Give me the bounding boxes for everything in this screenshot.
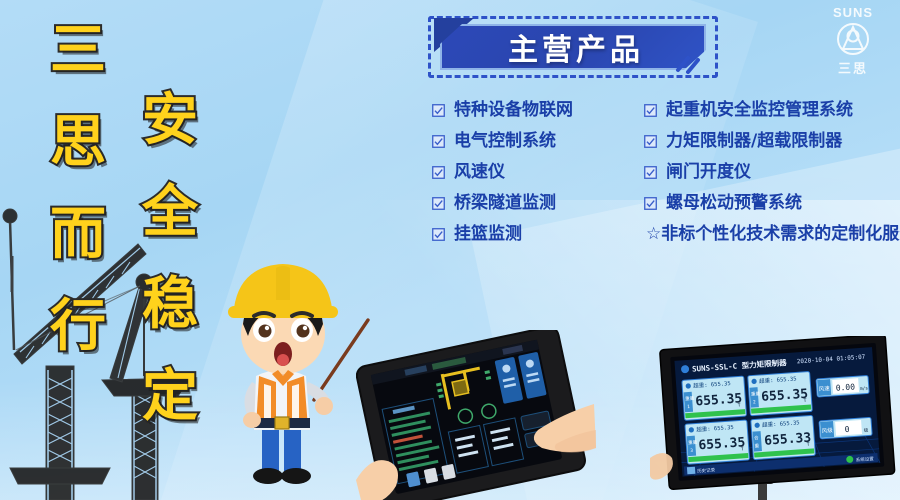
slogan-char: 思 bbox=[50, 114, 106, 172]
slogan-char: 定 bbox=[142, 368, 198, 426]
svg-text:T: T bbox=[806, 442, 809, 448]
product-cell[interactable]: 挂篮监测 bbox=[432, 224, 644, 244]
svg-text:T: T bbox=[803, 398, 806, 404]
product-label: 螺母松动预警系统 bbox=[666, 193, 802, 213]
svg-text:m/s: m/s bbox=[860, 385, 869, 392]
product-cell[interactable]: 电气控制系统 bbox=[432, 131, 644, 151]
product-label: 风速仪 bbox=[454, 162, 505, 182]
product-cell[interactable]: 闸门开度仪 bbox=[644, 162, 892, 182]
product-label: 特种设备物联网 bbox=[454, 100, 573, 120]
product-label: 起重机安全监控管理系统 bbox=[666, 100, 853, 120]
product-cell[interactable]: 风速仪 bbox=[432, 162, 644, 182]
industrial-touch-monitor-icon: SUNS-SSL-C 型力矩限制器 2020-10-04 01:05:07 超重… bbox=[650, 336, 900, 500]
product-list: 特种设备物联网 起重机安全监控管理系统 bbox=[432, 100, 892, 255]
checkbox-checked-icon bbox=[432, 197, 445, 210]
product-cell[interactable]: 桥梁隧道监测 bbox=[432, 193, 644, 213]
checkbox-checked-icon bbox=[644, 135, 657, 148]
product-label: 闸门开度仪 bbox=[666, 162, 751, 182]
slogan-char: 行 bbox=[50, 298, 106, 356]
checkbox-checked-icon bbox=[432, 228, 445, 241]
product-label: 桥梁隧道监测 bbox=[454, 193, 556, 213]
banner-plate: 主营产品 bbox=[440, 24, 706, 70]
product-label: 挂篮监测 bbox=[454, 224, 522, 244]
tablet-in-hands-icon bbox=[356, 330, 596, 500]
svg-text:0: 0 bbox=[844, 425, 850, 434]
product-cell[interactable]: 螺母松动预警系统 bbox=[644, 193, 892, 213]
checkbox-checked-icon bbox=[644, 104, 657, 117]
poster-canvas: 三 思 而 行 安 全 稳 定 SUNS 三思 主营产品 bbox=[0, 0, 900, 500]
svg-text:T: T bbox=[738, 402, 741, 408]
checkbox-checked-icon bbox=[644, 197, 657, 210]
product-label: 力矩限制器/超载限制器 bbox=[666, 131, 842, 151]
product-cell[interactable]: 特种设备物联网 bbox=[432, 100, 644, 120]
slogan-char: 而 bbox=[50, 206, 106, 264]
slogan-char: 全 bbox=[142, 184, 198, 242]
custom-service-note: ☆非标个性化技术需求的定制化服务 bbox=[644, 224, 900, 244]
slogan-char: 稳 bbox=[142, 276, 198, 334]
page-title: 主营产品 bbox=[502, 25, 644, 69]
product-label: 电气控制系统 bbox=[454, 131, 556, 151]
logo-wordmark: SUNS bbox=[820, 6, 886, 20]
product-cell[interactable]: 力矩限制器/超载限制器 bbox=[644, 131, 892, 151]
checkbox-checked-icon bbox=[432, 135, 445, 148]
product-cell[interactable]: 起重机安全监控管理系统 bbox=[644, 100, 892, 120]
svg-text:风速: 风速 bbox=[819, 385, 831, 393]
banner-corner-slash-icon bbox=[674, 50, 704, 74]
checkbox-checked-icon bbox=[432, 166, 445, 179]
product-row: 桥梁隧道监测 螺母松动预警系统 bbox=[432, 193, 892, 213]
product-row: 风速仪 闸门开度仪 bbox=[432, 162, 892, 182]
svg-text:0.00: 0.00 bbox=[835, 382, 855, 392]
product-row: 特种设备物联网 起重机安全监控管理系统 bbox=[432, 100, 892, 120]
product-row: 电气控制系统 力矩限制器/超载限制器 bbox=[432, 131, 892, 151]
logo-cn-name: 三思 bbox=[820, 62, 886, 77]
svg-text:T: T bbox=[741, 446, 744, 452]
slogan-char: 安 bbox=[142, 92, 198, 150]
section-banner: 主营产品 bbox=[428, 16, 718, 78]
checkbox-checked-icon bbox=[432, 104, 445, 117]
product-row: 挂篮监测 ☆非标个性化技术需求的定制化服务 bbox=[432, 224, 892, 244]
custom-service-label: ☆非标个性化技术需求的定制化服务 bbox=[644, 224, 900, 244]
brand-logo: SUNS 三思 bbox=[820, 6, 886, 76]
slogan-char: 三 bbox=[50, 22, 106, 80]
checkbox-checked-icon bbox=[644, 166, 657, 179]
suns-circle-a-logo-icon bbox=[835, 21, 871, 57]
